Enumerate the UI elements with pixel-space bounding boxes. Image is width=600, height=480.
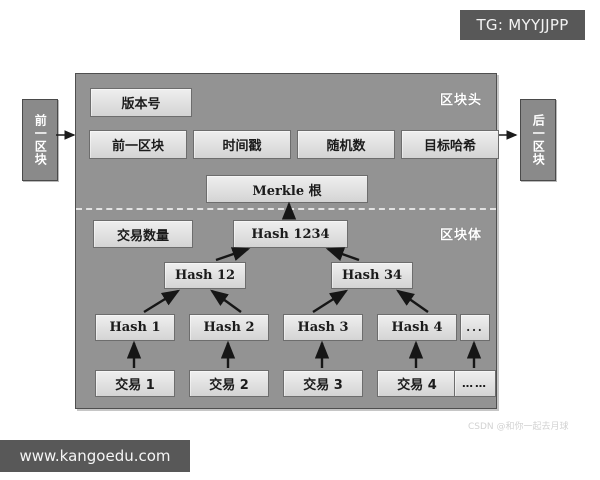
block-container: 区块头 区块体 版本号 前一区块 时间戳 随机数 目标哈希 Merkle 根 交… xyxy=(75,73,497,409)
next-block-connector-arrow xyxy=(496,129,522,143)
next-block-label: 后一区块 xyxy=(532,114,545,166)
csdn-watermark: CSDN @和你一起去月球 xyxy=(468,419,569,432)
site-url-badge[interactable]: www.kangoedu.com xyxy=(0,440,190,472)
next-block: 后一区块 xyxy=(520,99,556,181)
tg-badge: TG: MYYJJPP xyxy=(460,10,585,40)
merkle-tree-arrows xyxy=(76,74,496,408)
previous-block-label: 前一区块 xyxy=(34,114,47,166)
tg-badge-label: TG: MYYJJPP xyxy=(476,16,568,34)
previous-block: 前一区块 xyxy=(22,99,58,181)
site-url-label: www.kangoedu.com xyxy=(19,447,170,465)
